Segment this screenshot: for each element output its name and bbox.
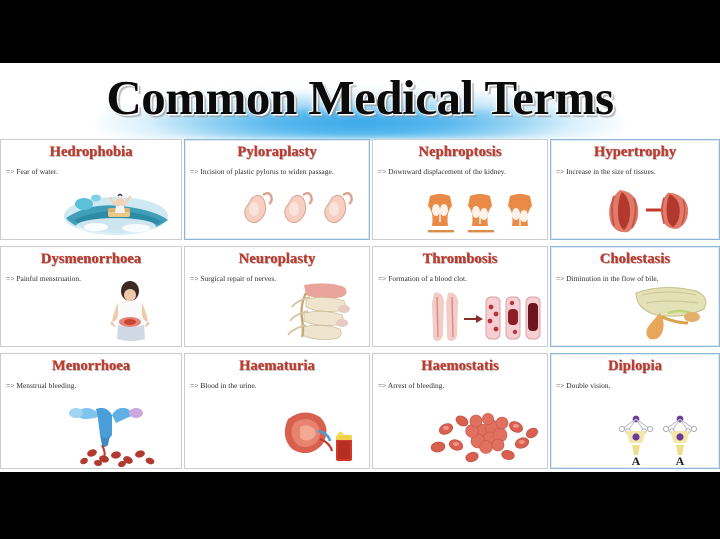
letterbox-top: [0, 0, 720, 63]
title-banner: Common Medical Terms: [0, 63, 720, 141]
term-card-nephroptosis[interactable]: Nephroptosis => Downward displacement of…: [372, 139, 548, 240]
term-title: Cholestasis: [551, 251, 719, 268]
term-definition: => Formation of a blood clot.: [378, 274, 541, 283]
slide-content: Common Medical Terms Hedrophobia => Fear…: [0, 63, 720, 472]
video-frame: Common Medical Terms Hedrophobia => Fear…: [0, 0, 720, 539]
uterus-with-blood-cells-icon: [50, 401, 178, 467]
clumping-red-blood-cells-icon: [416, 401, 544, 467]
liver-gallbladder-bile-duct-icon: [620, 279, 716, 345]
terms-row: Hedrophobia => Fear of water.: [0, 139, 720, 240]
term-title: Dysmenorrhoea: [1, 251, 181, 268]
terms-grid: Hedrophobia => Fear of water.: [0, 139, 720, 472]
term-definition: => Downward displacement of the kidney.: [378, 167, 541, 176]
term-title: Neuroplasty: [185, 251, 369, 268]
svg-text:A: A: [676, 454, 685, 467]
term-card-haematuria[interactable]: Haematuria => Blood in the urine.: [184, 353, 370, 469]
term-card-diplopia[interactable]: Diplopia => Double vision.: [550, 353, 720, 469]
term-title: Hypertrophy: [551, 144, 719, 161]
term-title: Menorrhoea: [1, 358, 181, 375]
term-card-menorrhoea[interactable]: Menorrhoea => Menstrual bleeding.: [0, 353, 182, 469]
page-title: Common Medical Terms: [0, 69, 720, 126]
term-title: Hedrophobia: [1, 144, 181, 161]
term-title: Diplopia: [551, 358, 719, 375]
three-torso-kidneys-icon: [416, 182, 544, 238]
spine-vertebrae-nerve-icon: [270, 279, 366, 345]
term-definition: => Double vision.: [556, 381, 713, 390]
term-definition: => Blood in the urine.: [190, 381, 363, 390]
terms-row: Menorrhoea => Menstrual bleeding.: [0, 353, 720, 469]
term-definition: => Menstrual bleeding.: [6, 381, 175, 390]
muscle-growth-arrow-icon: [588, 182, 716, 238]
three-stomachs-icon: [238, 182, 366, 238]
kidney-with-urine-sample-icon: [270, 401, 366, 467]
term-card-haemostatis[interactable]: Haemostatis => Arrest of bleeding.: [372, 353, 548, 469]
term-card-neuroplasty[interactable]: Neuroplasty => Surgical repair of nerves…: [184, 246, 370, 347]
term-definition: => Arrest of bleeding.: [378, 381, 541, 390]
term-definition: => Surgical repair of nerves.: [190, 274, 363, 283]
term-title: Thrombosis: [373, 251, 547, 268]
woman-abdominal-pain-icon: [82, 279, 178, 345]
term-card-cholestasis[interactable]: Cholestasis => Diminution in the flow of…: [550, 246, 720, 347]
term-card-thrombosis[interactable]: Thrombosis => Formation of a blood clot.: [372, 246, 548, 347]
term-title: Pyloraplasty: [185, 144, 369, 161]
legs-blood-clot-vessel-icon: [416, 289, 544, 345]
term-card-dysmenorrhoea[interactable]: Dysmenorrhoea => Painful menstruation.: [0, 246, 182, 347]
person-drowning-in-water-icon: [50, 182, 178, 238]
term-card-hedrophobia[interactable]: Hedrophobia => Fear of water.: [0, 139, 182, 240]
term-card-hypertrophy[interactable]: Hypertrophy => Increase in the size of t…: [550, 139, 720, 240]
term-definition: => Diminution in the flow of bile.: [556, 274, 713, 283]
terms-row: Dysmenorrhoea => Painful menstruation.: [0, 246, 720, 347]
term-card-pyloraplasty[interactable]: Pyloraplasty => Incision of plastic pylo…: [184, 139, 370, 240]
term-definition: => Painful menstruation.: [6, 274, 175, 283]
term-definition: => Incision of plastic pylorus to widen …: [190, 167, 363, 176]
double-vision-eye-diagram-icon: A: [588, 401, 716, 467]
term-definition: => Fear of water.: [6, 167, 175, 176]
term-definition: => Increase in the size of tissues.: [556, 167, 713, 176]
term-title: Nephroptosis: [373, 144, 547, 161]
term-title: Haemostatis: [373, 358, 547, 375]
letterbox-bottom: [0, 472, 720, 539]
svg-text:A: A: [632, 454, 641, 467]
term-title: Haematuria: [185, 358, 369, 375]
